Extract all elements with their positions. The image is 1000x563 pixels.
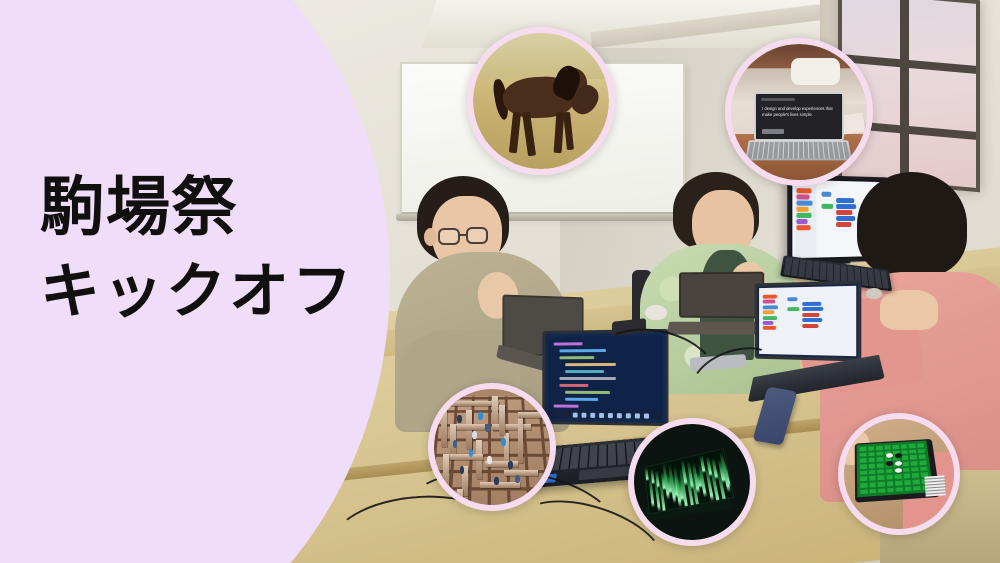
- maze-wall: [518, 412, 544, 418]
- code-line: [559, 384, 588, 387]
- ide-block: [763, 294, 778, 298]
- code-line: [565, 370, 604, 373]
- laptop-center-lid: [679, 272, 764, 319]
- taskbar-icon: [590, 412, 595, 417]
- maze-visitor: [453, 440, 458, 448]
- glasses-lens-left-icon: [438, 228, 460, 245]
- page-title-line2: キックオフ: [40, 262, 390, 322]
- code-line: [565, 391, 610, 394]
- ide-block: [787, 307, 799, 311]
- person-right-hand: [880, 290, 938, 330]
- horse-photo: [473, 33, 609, 169]
- ide-block: [802, 318, 823, 322]
- maze-visitor: [515, 475, 520, 483]
- maze-visitor: [487, 456, 492, 464]
- maze-wall: [441, 401, 499, 407]
- maze-visitor: [494, 477, 499, 485]
- person-right-hair: [857, 172, 967, 277]
- bubble-othello: [838, 413, 960, 535]
- page-title-line1: 駒場祭: [40, 176, 390, 240]
- ide-block: [821, 191, 831, 196]
- ide-block: [796, 219, 808, 224]
- laptop-right-screen: [759, 286, 856, 356]
- code-line: [554, 342, 583, 345]
- quote-laptop-keyboard: [745, 140, 852, 160]
- ide-block: [802, 313, 820, 317]
- laptop-right-lid: [755, 280, 862, 361]
- othello-disc-black: [885, 461, 892, 466]
- ide-block: [796, 206, 808, 211]
- window-mullion-vertical: [900, 0, 909, 182]
- ide-block: [763, 316, 778, 320]
- ide-block: [821, 204, 833, 209]
- bubble-maze: [428, 383, 556, 511]
- maze-wall: [443, 454, 482, 460]
- taskbar-icon: [573, 412, 578, 417]
- maze-wall: [492, 424, 531, 430]
- ide-block: [836, 222, 851, 227]
- maze-visitor: [457, 415, 462, 423]
- othello-photo: [844, 419, 954, 529]
- bubble-horse: [467, 27, 615, 175]
- quote-laptop-lid: I design and develop experiences that ma…: [754, 92, 844, 141]
- poster-title: 駒場祭 キックオフ: [40, 176, 390, 322]
- ide-block: [796, 194, 809, 199]
- ide-block: [796, 225, 810, 230]
- table-mouse: [645, 305, 667, 320]
- quote-laptop-screen: I design and develop experiences that ma…: [757, 95, 841, 138]
- quote-box: [791, 58, 840, 85]
- maze-visitor: [501, 438, 506, 446]
- ide-block: [802, 302, 822, 306]
- poster-canvas: 駒場祭 キックオフ: [0, 0, 1000, 563]
- ide-block: [763, 300, 776, 304]
- taskbar-icon: [644, 413, 649, 418]
- ide-block: [763, 305, 779, 309]
- othello-disc-white: [894, 461, 901, 466]
- maze-photo: [434, 389, 550, 505]
- bubble-matrix: [628, 418, 756, 546]
- maze-wall: [457, 489, 463, 505]
- quote-screen-text: I design and develop experiences that ma…: [762, 106, 836, 119]
- maze-visitor: [478, 412, 483, 420]
- maze-wall: [441, 401, 447, 447]
- glasses-bridge: [459, 234, 467, 236]
- taskbar-icon: [582, 412, 587, 417]
- othello-disc-stack: [925, 476, 946, 497]
- horse-sky: [473, 33, 609, 79]
- ide-block: [836, 204, 856, 209]
- maze-visitor: [485, 424, 490, 432]
- ide-block: [802, 307, 824, 311]
- maze-visitor: [508, 461, 513, 469]
- ide-block: [796, 213, 811, 218]
- taskbar-icon: [599, 412, 604, 417]
- matrix-photo: [634, 424, 750, 540]
- taskbar-icon: [626, 413, 631, 418]
- ide-block: [763, 326, 777, 330]
- bubble-laptop-quote: I design and develop experiences that ma…: [725, 38, 873, 186]
- taskbar-icon: [617, 413, 622, 418]
- ide-block: [836, 210, 852, 215]
- maze-wall: [504, 470, 539, 476]
- othello-disc-white: [894, 468, 901, 473]
- desktop-mouse: [866, 288, 882, 299]
- quote-text-body: I design and develop experiences that ma…: [762, 106, 833, 118]
- maze-wall: [466, 410, 472, 449]
- ide-block: [802, 324, 819, 328]
- maze-wall: [480, 482, 519, 488]
- ide-block: [796, 200, 812, 205]
- quote-cta-button[interactable]: [762, 129, 784, 134]
- glasses-lens-right-icon: [466, 227, 488, 244]
- maze-wall: [476, 440, 482, 479]
- ide-block: [763, 321, 774, 325]
- othello-cell[interactable]: [859, 488, 868, 495]
- maze-visitor: [472, 431, 477, 439]
- code-line: [554, 405, 579, 408]
- ide-block: [836, 198, 854, 203]
- ide-block: [763, 310, 775, 314]
- ide-block: [796, 188, 811, 193]
- quote-browser-bar: [761, 98, 795, 101]
- maze-wall: [499, 405, 505, 435]
- taskbar-icon: [608, 413, 613, 418]
- person-left-ear: [424, 228, 437, 246]
- code-line: [559, 356, 594, 359]
- maze-visitor: [460, 466, 465, 474]
- laptop-quote-photo: I design and develop experiences that ma…: [731, 44, 867, 180]
- ide-block: [787, 297, 797, 301]
- maze-wall: [443, 454, 449, 489]
- code-line: [565, 398, 598, 401]
- laptop-right-ide-blocks: [759, 286, 856, 288]
- ide-block: [836, 216, 855, 221]
- maze-wall: [518, 412, 524, 463]
- taskbar-icon: [635, 413, 640, 418]
